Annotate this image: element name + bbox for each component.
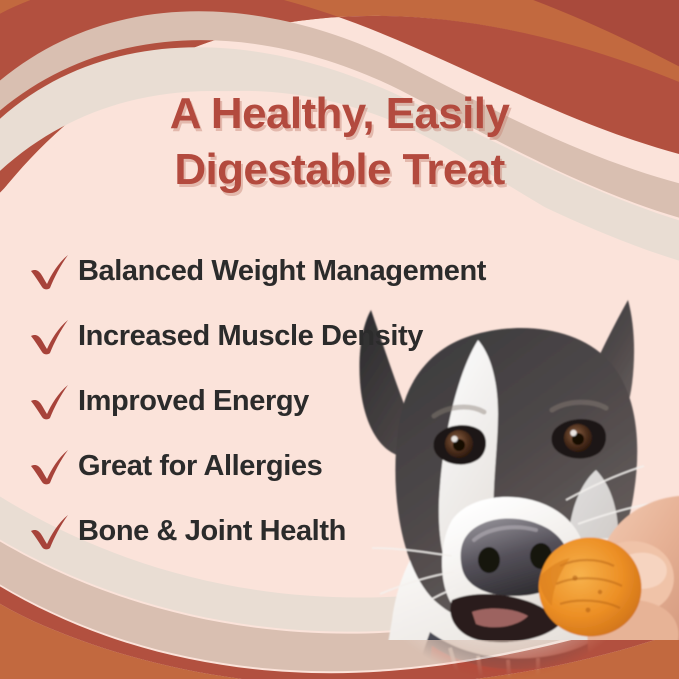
list-item: Balanced Weight Management	[22, 238, 662, 303]
checkmark-icon	[22, 511, 78, 551]
benefits-list: Balanced Weight Management Increased Mus…	[22, 238, 662, 563]
list-item: Bone & Joint Health	[22, 498, 662, 563]
list-item-label: Increased Muscle Density	[78, 319, 423, 353]
list-item-label: Great for Allergies	[78, 449, 322, 483]
promo-poster: A Healthy, Easily Digestable Treat Balan…	[0, 0, 679, 679]
list-item-label: Improved Energy	[78, 384, 309, 418]
checkmark-icon	[22, 446, 78, 486]
list-item: Great for Allergies	[22, 433, 662, 498]
list-item: Improved Energy	[22, 368, 662, 433]
list-item-label: Balanced Weight Management	[78, 254, 486, 288]
list-item-label: Bone & Joint Health	[78, 514, 346, 548]
checkmark-icon	[22, 381, 78, 421]
checkmark-icon	[22, 316, 78, 356]
checkmark-icon	[22, 251, 78, 291]
list-item: Increased Muscle Density	[22, 303, 662, 368]
